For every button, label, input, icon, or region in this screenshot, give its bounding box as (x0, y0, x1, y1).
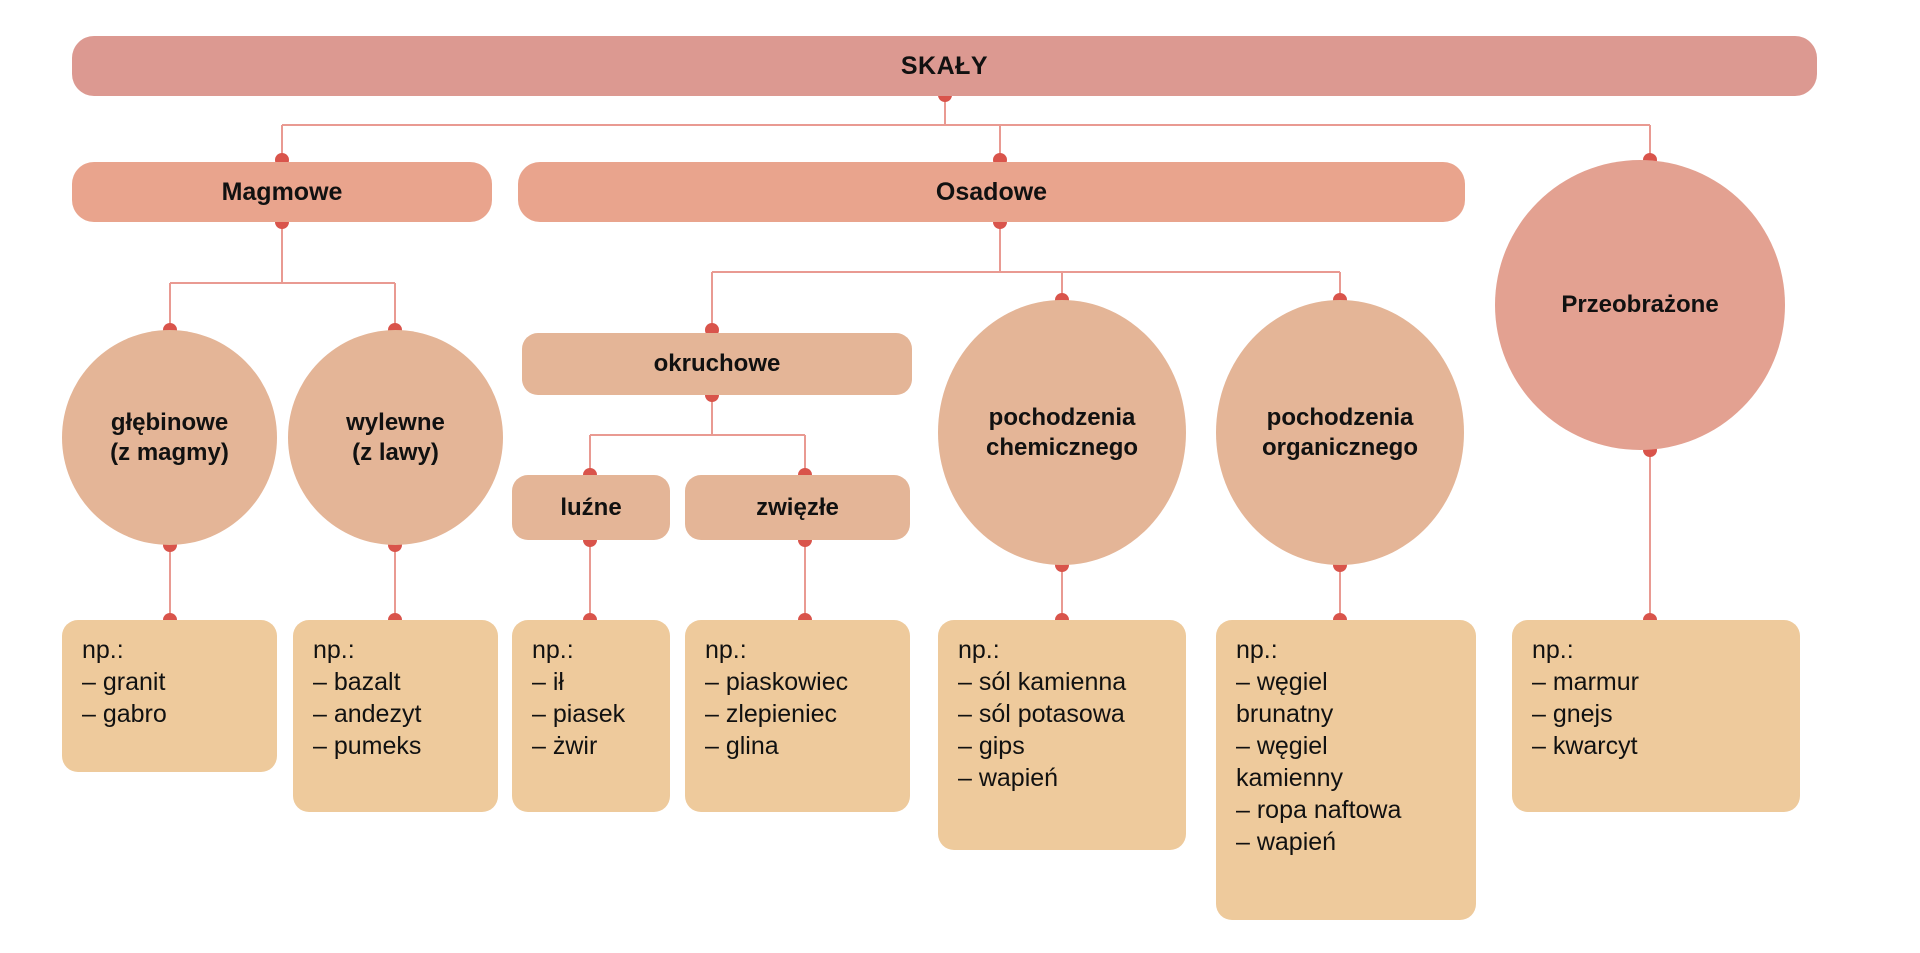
subtype-node-label-line2: chemicznego (986, 433, 1138, 462)
subtype-node-pochodzenia-organicznego[interactable]: pochodzenia organicznego (1216, 300, 1464, 565)
root-node-label: SKAŁY (901, 52, 988, 81)
subtype-node-label-line1: pochodzenia (1267, 403, 1414, 432)
subtype-node-label-line2: (z lawy) (352, 438, 439, 467)
example-item: – bazalt (313, 666, 480, 698)
example-item: – piaskowiec (705, 666, 892, 698)
subsubtype-node-zwiezle[interactable]: zwięzłe (685, 475, 910, 540)
subtype-node-label-line2: (z magmy) (110, 438, 229, 467)
root-node-skaly[interactable]: SKAŁY (72, 36, 1817, 96)
subtype-node-label: okruchowe (654, 350, 781, 378)
example-box-heading: np.: (705, 634, 892, 666)
category-node-label: Osadowe (936, 178, 1047, 207)
example-item: – granit (82, 666, 259, 698)
subtype-node-label-line1: pochodzenia (989, 403, 1136, 432)
example-item: – marmur (1532, 666, 1782, 698)
example-item: – węgiel (1236, 730, 1458, 762)
subtype-node-glebinowe[interactable]: głębinowe (z magmy) (62, 330, 277, 545)
subtype-node-pochodzenia-chemicznego[interactable]: pochodzenia chemicznego (938, 300, 1186, 565)
example-box-heading: np.: (1532, 634, 1782, 666)
example-box-chemicznego[interactable]: np.: – sól kamienna – sól potasowa – gip… (938, 620, 1186, 850)
example-item: kamienny (1236, 762, 1458, 794)
example-item: – żwir (532, 730, 652, 762)
example-box-wylewne[interactable]: np.: – bazalt – andezyt – pumeks (293, 620, 498, 812)
category-node-osadowe[interactable]: Osadowe (518, 162, 1465, 222)
example-item: – ropa naftowa (1236, 794, 1458, 826)
example-item: brunatny (1236, 698, 1458, 730)
example-item: – sól kamienna (958, 666, 1168, 698)
example-box-heading: np.: (1236, 634, 1458, 666)
subsubtype-node-label: zwięzłe (756, 494, 839, 522)
example-box-heading: np.: (82, 634, 259, 666)
subsubtype-node-label: luźne (560, 494, 621, 522)
example-item: – wapień (1236, 826, 1458, 858)
category-node-label: Magmowe (222, 178, 343, 207)
example-item: – ił (532, 666, 652, 698)
example-box-glebinowe[interactable]: np.: – granit – gabro (62, 620, 277, 772)
category-node-magmowe[interactable]: Magmowe (72, 162, 492, 222)
subtype-node-wylewne[interactable]: wylewne (z lawy) (288, 330, 503, 545)
example-item: – piasek (532, 698, 652, 730)
example-item: – glina (705, 730, 892, 762)
diagram-canvas: SKAŁY Magmowe Osadowe Przeobrażone głębi… (0, 0, 1920, 953)
subtype-node-label-line1: głębinowe (111, 408, 228, 437)
subtype-node-label-line1: wylewne (346, 408, 445, 437)
example-item: – zlepieniec (705, 698, 892, 730)
example-box-luzne[interactable]: np.: – ił – piasek – żwir (512, 620, 670, 812)
example-item: – węgiel (1236, 666, 1458, 698)
example-box-zwiezle[interactable]: np.: – piaskowiec – zlepieniec – glina (685, 620, 910, 812)
subtype-node-label-line2: organicznego (1262, 433, 1418, 462)
example-item: – gnejs (1532, 698, 1782, 730)
example-box-przeobrazone[interactable]: np.: – marmur – gnejs – kwarcyt (1512, 620, 1800, 812)
example-item: – gips (958, 730, 1168, 762)
example-box-heading: np.: (532, 634, 652, 666)
example-item: – pumeks (313, 730, 480, 762)
example-item: – wapień (958, 762, 1168, 794)
category-node-przeobrazone[interactable]: Przeobrażone (1495, 160, 1785, 450)
example-item: – gabro (82, 698, 259, 730)
example-item: – andezyt (313, 698, 480, 730)
example-item: – kwarcyt (1532, 730, 1782, 762)
example-item: – sól potasowa (958, 698, 1168, 730)
example-box-heading: np.: (958, 634, 1168, 666)
subtype-node-okruchowe[interactable]: okruchowe (522, 333, 912, 395)
category-node-label: Przeobrażone (1561, 291, 1718, 319)
subsubtype-node-luzne[interactable]: luźne (512, 475, 670, 540)
example-box-heading: np.: (313, 634, 480, 666)
example-box-organicznego[interactable]: np.: – węgiel brunatny – węgiel kamienny… (1216, 620, 1476, 920)
